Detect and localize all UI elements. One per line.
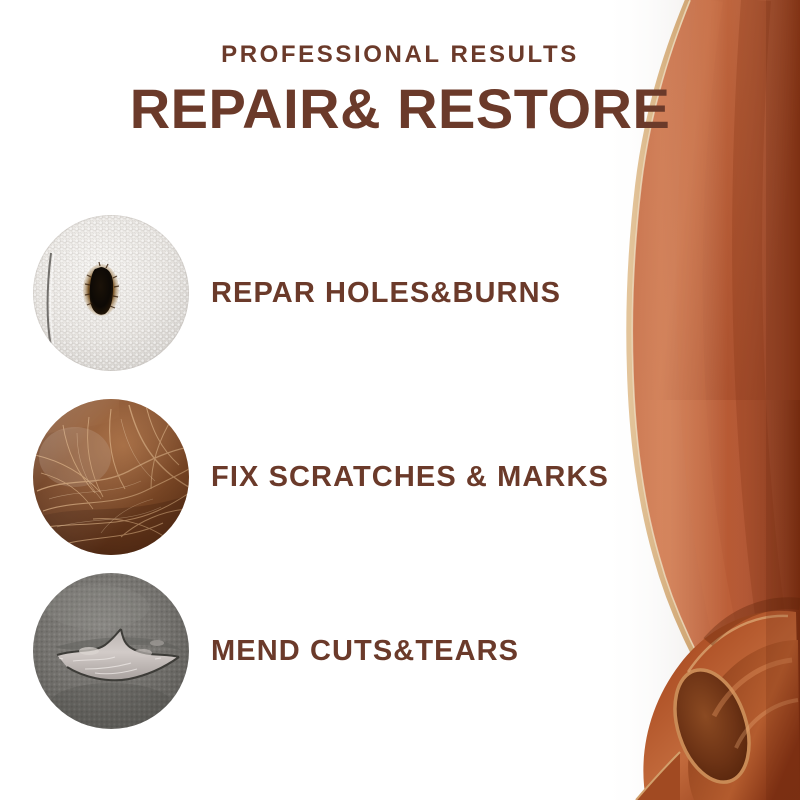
eyebrow-text: PROFESSIONAL RESULTS	[0, 41, 800, 69]
feature-row-scratches-marks: FIX SCRATCHES & MARKS	[33, 398, 653, 556]
leather-roll-coil	[636, 603, 800, 800]
leather-burn-hole-swatch	[33, 215, 189, 371]
poster-canvas: PROFESSIONAL RESULTS REPAIR& RESTORE	[0, 0, 800, 800]
leather-cut-tear-swatch	[33, 573, 189, 729]
feature-row-holes-burns: REPAR HOLES&BURNS	[33, 214, 653, 372]
feature-label-scratches-marks: FIX SCRATCHES & MARKS	[211, 461, 609, 494]
feature-label-holes-burns: REPAR HOLES&BURNS	[211, 277, 561, 310]
feature-label-cuts-tears: MEND CUTS&TEARS	[211, 635, 519, 668]
page-title: REPAIR& RESTORE	[0, 80, 800, 139]
leather-scratches-swatch	[33, 399, 189, 555]
feature-row-cuts-tears: MEND CUTS&TEARS	[33, 572, 653, 730]
